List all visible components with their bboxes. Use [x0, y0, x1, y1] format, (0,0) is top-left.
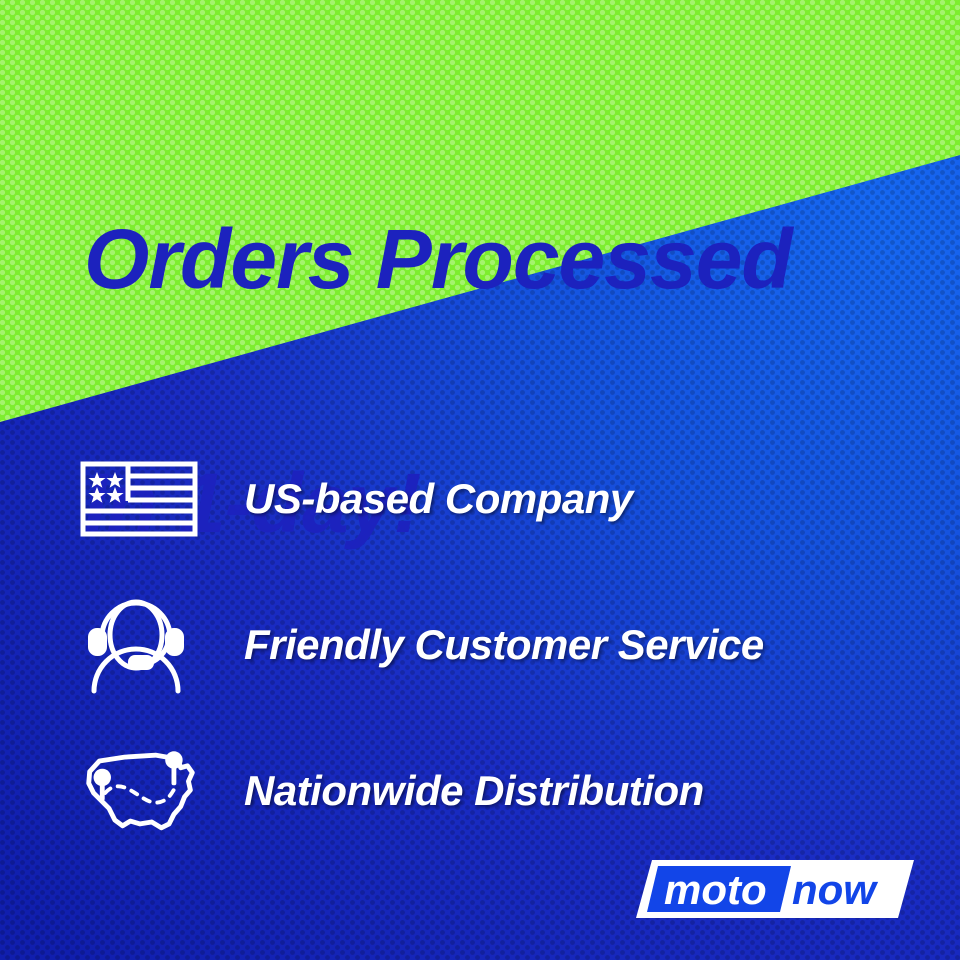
feature-item-customer-service: Friendly Customer Service	[74, 586, 894, 704]
logo-word-moto: moto	[664, 866, 767, 913]
headline-line-1: Orders Processed	[84, 219, 914, 300]
flag-stars	[88, 472, 123, 503]
motonow-logo[interactable]: moto now	[636, 856, 914, 922]
logo-word-now: now	[792, 866, 878, 913]
feature-label-customer-service: Friendly Customer Service	[244, 621, 764, 669]
microphone-capsule	[128, 655, 154, 670]
feature-label-nationwide: Nationwide Distribution	[244, 767, 704, 815]
feature-item-nationwide: Nationwide Distribution	[74, 732, 894, 850]
feature-list: US-based Company	[74, 440, 894, 878]
feature-label-us-based: US-based Company	[244, 475, 633, 523]
feature-item-us-based: US-based Company	[74, 440, 894, 558]
us-flag-icon	[74, 447, 202, 551]
route-dashed-line	[105, 783, 177, 802]
promo-graphic: Orders Processed In 1-day!	[0, 0, 960, 960]
us-map-route-icon	[74, 739, 202, 843]
headset-support-icon	[74, 593, 202, 697]
